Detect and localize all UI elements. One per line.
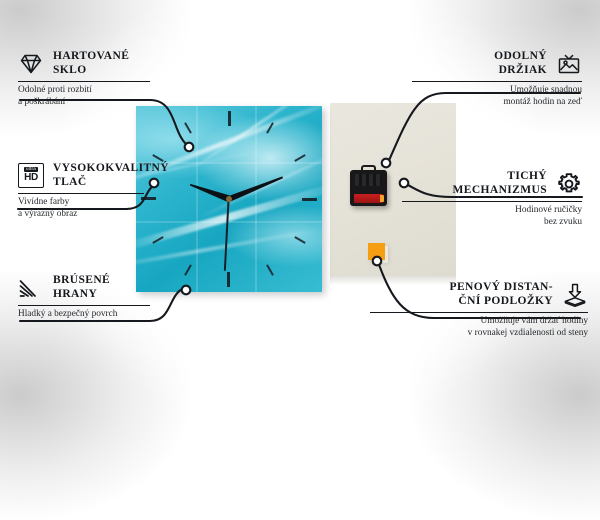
ultra-hd-icon: ultraHD [18, 163, 44, 189]
feature-title: VYSOKOKVALITNÝ TLAČ [53, 162, 169, 189]
feature-subtitle: Umožňuje vám držať hodiny v rovnakej vzd… [370, 316, 588, 339]
clock-tick [228, 111, 230, 199]
feature-callout-hd-print: ultraHD VYSOKOKVALITNÝ TLAČ Vivídne farb… [18, 162, 188, 220]
diamond-icon [18, 51, 44, 77]
feature-title: PENOVÝ DISTAN- ČNÍ PODLOŽKY [450, 281, 553, 308]
feature-callout-foam-spacers: PENOVÝ DISTAN- ČNÍ PODLOŽKY Umožňuje vám… [370, 281, 588, 339]
feature-subtitle: Umožňuje snadnou montáž hodin na zeď [412, 85, 582, 108]
clock-tick [229, 198, 317, 200]
feature-rule [18, 193, 144, 194]
foam-spacer-icon [562, 282, 588, 308]
clock-center-hub [226, 196, 232, 202]
mechanism-battery [354, 194, 383, 203]
feature-callout-silent-movement: TICHÝ MECHANIZMUS Hodinové ručičky bez z… [402, 170, 582, 228]
feature-callout-beveled-edges: BRÚSENÉ HRANY Hladký a bezpečný povrch [18, 274, 198, 321]
feature-subtitle: Hodinové ručičky bez zvuku [402, 205, 582, 228]
gear-icon [556, 171, 582, 197]
feature-subtitle: Hladký a bezpečný povrch [18, 309, 198, 321]
clock-mechanism-photo [350, 170, 387, 206]
feature-subtitle: Odolné proti rozbití a poškrábání [18, 85, 178, 108]
feature-rule [402, 201, 582, 202]
feature-rule [18, 81, 150, 82]
beveled-edges-icon [18, 275, 44, 301]
feature-rule [412, 81, 582, 82]
foam-spacer-photo [368, 243, 385, 260]
feature-title: BRÚSENÉ HRANY [53, 274, 110, 301]
feature-rule [370, 312, 588, 313]
feature-subtitle: Vivídne farby a výrazný obraz [18, 197, 188, 220]
feature-callout-durable-holder: ODOLNÝ DRŽIAK Umožňuje snadnou montáž ho… [412, 50, 582, 108]
feature-callout-hardened-glass: HARTOVANÉ SKLO Odolné proti rozbití a po… [18, 50, 178, 108]
feature-title: TICHÝ MECHANIZMUS [453, 170, 548, 197]
feature-rule [18, 305, 150, 306]
feature-title: HARTOVANÉ SKLO [53, 50, 129, 77]
feature-title: ODOLNÝ DRŽIAK [494, 50, 547, 77]
picture-hanger-icon [556, 51, 582, 77]
